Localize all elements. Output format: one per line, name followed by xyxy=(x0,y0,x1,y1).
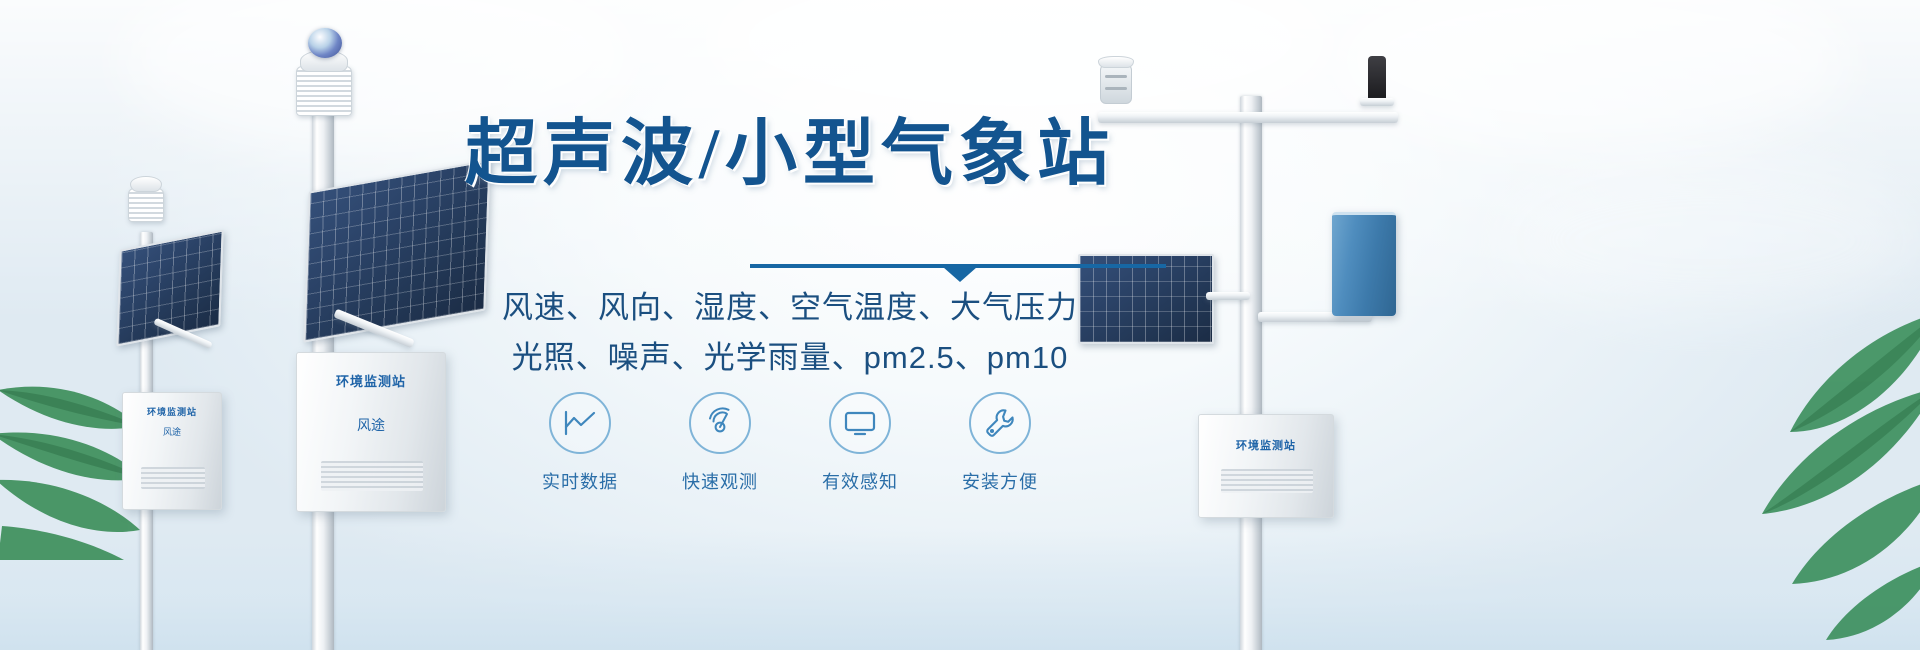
subtitle-line-1: 风速、风向、湿度、空气温度、大气压力 xyxy=(440,282,1140,327)
divider-triangle-icon xyxy=(943,267,977,282)
station-pole xyxy=(1240,96,1262,650)
sky-dome-sensor xyxy=(308,28,342,58)
rain-gauge xyxy=(1332,212,1396,316)
radiation-shield xyxy=(128,188,164,222)
feature-label: 安装方便 xyxy=(940,468,1060,494)
monitor-icon xyxy=(829,392,891,454)
cabinet-label: 环境监测站 xyxy=(1199,437,1333,453)
cabinet-brand: 风途 xyxy=(297,415,445,435)
subtitle-line-2: 光照、噪声、光学雨量、pm2.5、pm10 xyxy=(440,332,1140,377)
sensor-cap xyxy=(1098,56,1134,68)
cabinet-vent xyxy=(1221,469,1313,493)
feature-item-effective-sensing[interactable]: 有效感知 xyxy=(800,392,920,494)
panel-bracket xyxy=(1206,292,1250,300)
radiation-shield xyxy=(296,66,352,116)
shield-cap xyxy=(130,176,162,192)
camera-sensor xyxy=(1368,56,1386,104)
feature-list: 实时数据 快速观测 有效感知 xyxy=(520,392,1060,502)
feature-item-realtime-data[interactable]: 实时数据 xyxy=(520,392,640,494)
ground-gradient xyxy=(0,530,1920,650)
wrench-icon xyxy=(969,392,1031,454)
cabinet-label: 环境监测站 xyxy=(297,371,445,390)
page-title: 超声波/小型气象站 xyxy=(440,118,1140,190)
leaf-decoration-right xyxy=(1640,292,1920,650)
ultrasonic-wind-sensor xyxy=(1100,64,1132,104)
equipment-cabinet: 环境监测站 风途 xyxy=(296,352,446,512)
feature-item-fast-observation[interactable]: 快速观测 xyxy=(660,392,780,494)
cabinet-label: 环境监测站 xyxy=(123,405,221,418)
sensor-bracket xyxy=(1360,98,1394,106)
equipment-cabinet: 环境监测站 风途 xyxy=(122,392,222,510)
feature-item-easy-installation[interactable]: 安装方便 xyxy=(940,392,1060,494)
cabinet-vent xyxy=(321,461,423,491)
cabinet-vent xyxy=(141,467,205,489)
feature-label: 实时数据 xyxy=(520,468,640,494)
feature-label: 快速观测 xyxy=(660,468,780,494)
title-divider xyxy=(750,258,1166,280)
cabinet-brand: 风途 xyxy=(123,425,221,438)
wind-sensor-icon xyxy=(689,392,751,454)
cloud-decoration xyxy=(1330,0,1850,150)
equipment-cabinet: 环境监测站 xyxy=(1198,414,1334,518)
feature-label: 有效感知 xyxy=(800,468,920,494)
crossarm xyxy=(1098,112,1398,123)
line-chart-icon xyxy=(549,392,611,454)
